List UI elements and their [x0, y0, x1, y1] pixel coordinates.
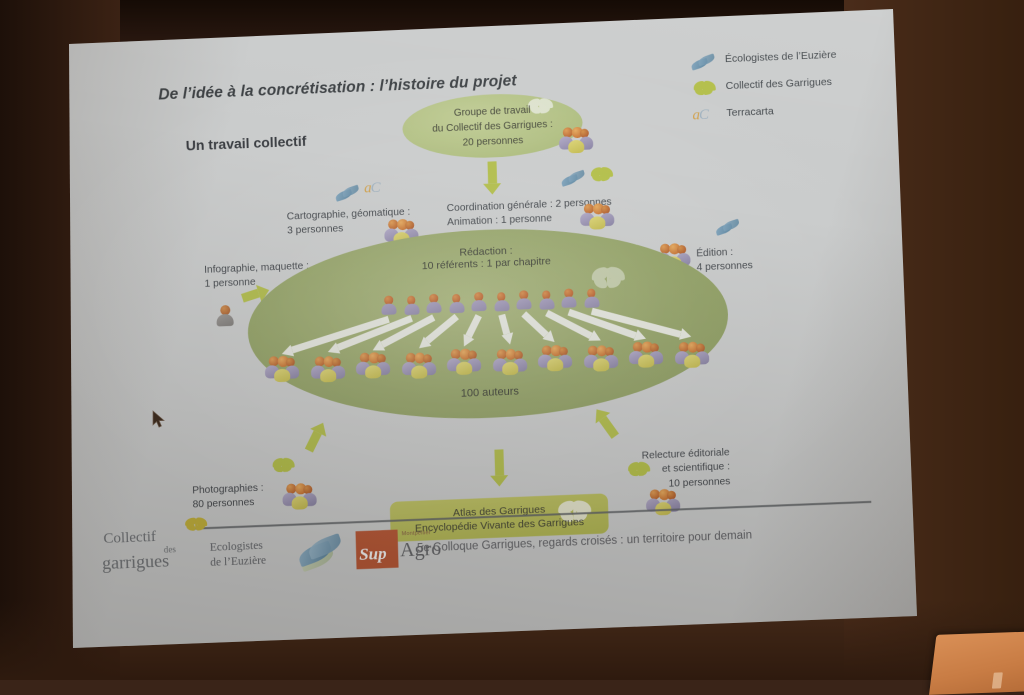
logo-line: Montpellier [402, 530, 431, 537]
people-group-icon [538, 345, 573, 372]
people-group-icon [401, 352, 436, 379]
person-icon [494, 292, 510, 312]
leaf-icon [335, 187, 361, 202]
people-group-icon [674, 341, 709, 368]
legend-label: Collectif des Garrigues [726, 76, 833, 92]
node-photographies: Photographies : 80 personnes [192, 482, 264, 514]
laptop-lid [929, 631, 1024, 695]
person-icon [426, 294, 442, 314]
logo-line: Sup [359, 544, 387, 565]
logo-line: Ecologistes [210, 540, 263, 554]
legend-label: Terracarta [726, 105, 774, 119]
terracarta-icon: aC [364, 180, 390, 197]
logo-ecologistes-euziere: Ecologistes de l’Euzière [210, 535, 343, 580]
text-line: 80 personnes [192, 496, 264, 513]
people-group-icon [559, 126, 594, 153]
people-group-icon [580, 203, 615, 230]
logo-line: Collectif [103, 529, 156, 548]
leaf-icon [296, 535, 345, 571]
node-relecture: Relecture éditoriale et scientifique : 1… [642, 446, 731, 493]
leaf-icon [561, 172, 587, 187]
butterfly-icon [590, 167, 614, 184]
people-group-icon [646, 488, 681, 515]
node-redaction: Rédaction : 10 référents : 1 par chapitr… [246, 236, 727, 279]
legend: Écologistes de l’Euzière Collectif des G… [691, 43, 913, 133]
butterfly-icon [627, 462, 651, 479]
terracarta-icon: aC [692, 106, 718, 123]
distribution-arrow [458, 313, 485, 349]
laptop-hinge [992, 672, 1003, 688]
butterfly-icon [185, 517, 207, 533]
person-icon [561, 288, 577, 308]
redaction-ellipse: Rédaction : 10 référents : 1 par chapitr… [245, 220, 730, 427]
node-working-group: Groupe de travail du Collectif des Garri… [402, 91, 584, 161]
distribution-arrow [495, 313, 515, 346]
logo-line: garrigues [102, 551, 170, 575]
butterfly-icon [693, 81, 717, 98]
slide-content: De l’idée à la concrétisation : l’histoi… [69, 0, 936, 642]
person-icon [381, 295, 397, 315]
legend-label: Écologistes de l’Euzière [725, 49, 837, 65]
people-group-icon [583, 345, 618, 372]
people-group-icon [310, 356, 345, 383]
person-icon [539, 290, 555, 310]
leaf-icon [715, 221, 741, 236]
slide-subtitle: Un travail collectif [186, 133, 307, 154]
people-group-icon [356, 352, 391, 379]
leaf-icon [691, 55, 717, 70]
mouse-cursor [152, 410, 166, 430]
people-group-icon [492, 348, 527, 375]
people-group-icon [447, 348, 482, 375]
people-group-icon [265, 355, 300, 382]
person-icon [404, 296, 420, 316]
people-group-icon [282, 483, 317, 510]
person-icon [449, 294, 465, 314]
people-group-icon [629, 341, 664, 368]
logo-line: de l’Euzière [210, 555, 266, 569]
text-line: 4 personnes [696, 260, 752, 277]
person-icon [516, 290, 532, 310]
logo-collectif-garrigues: Collectif des garrigues [101, 521, 207, 585]
projection-screen: De l’idée à la concrétisation : l’histoi… [0, 0, 1024, 680]
node-working-group-text: Groupe de travail du Collectif des Garri… [402, 101, 583, 153]
person-icon [216, 305, 234, 327]
butterfly-icon [271, 458, 295, 475]
person-icon [471, 292, 487, 312]
